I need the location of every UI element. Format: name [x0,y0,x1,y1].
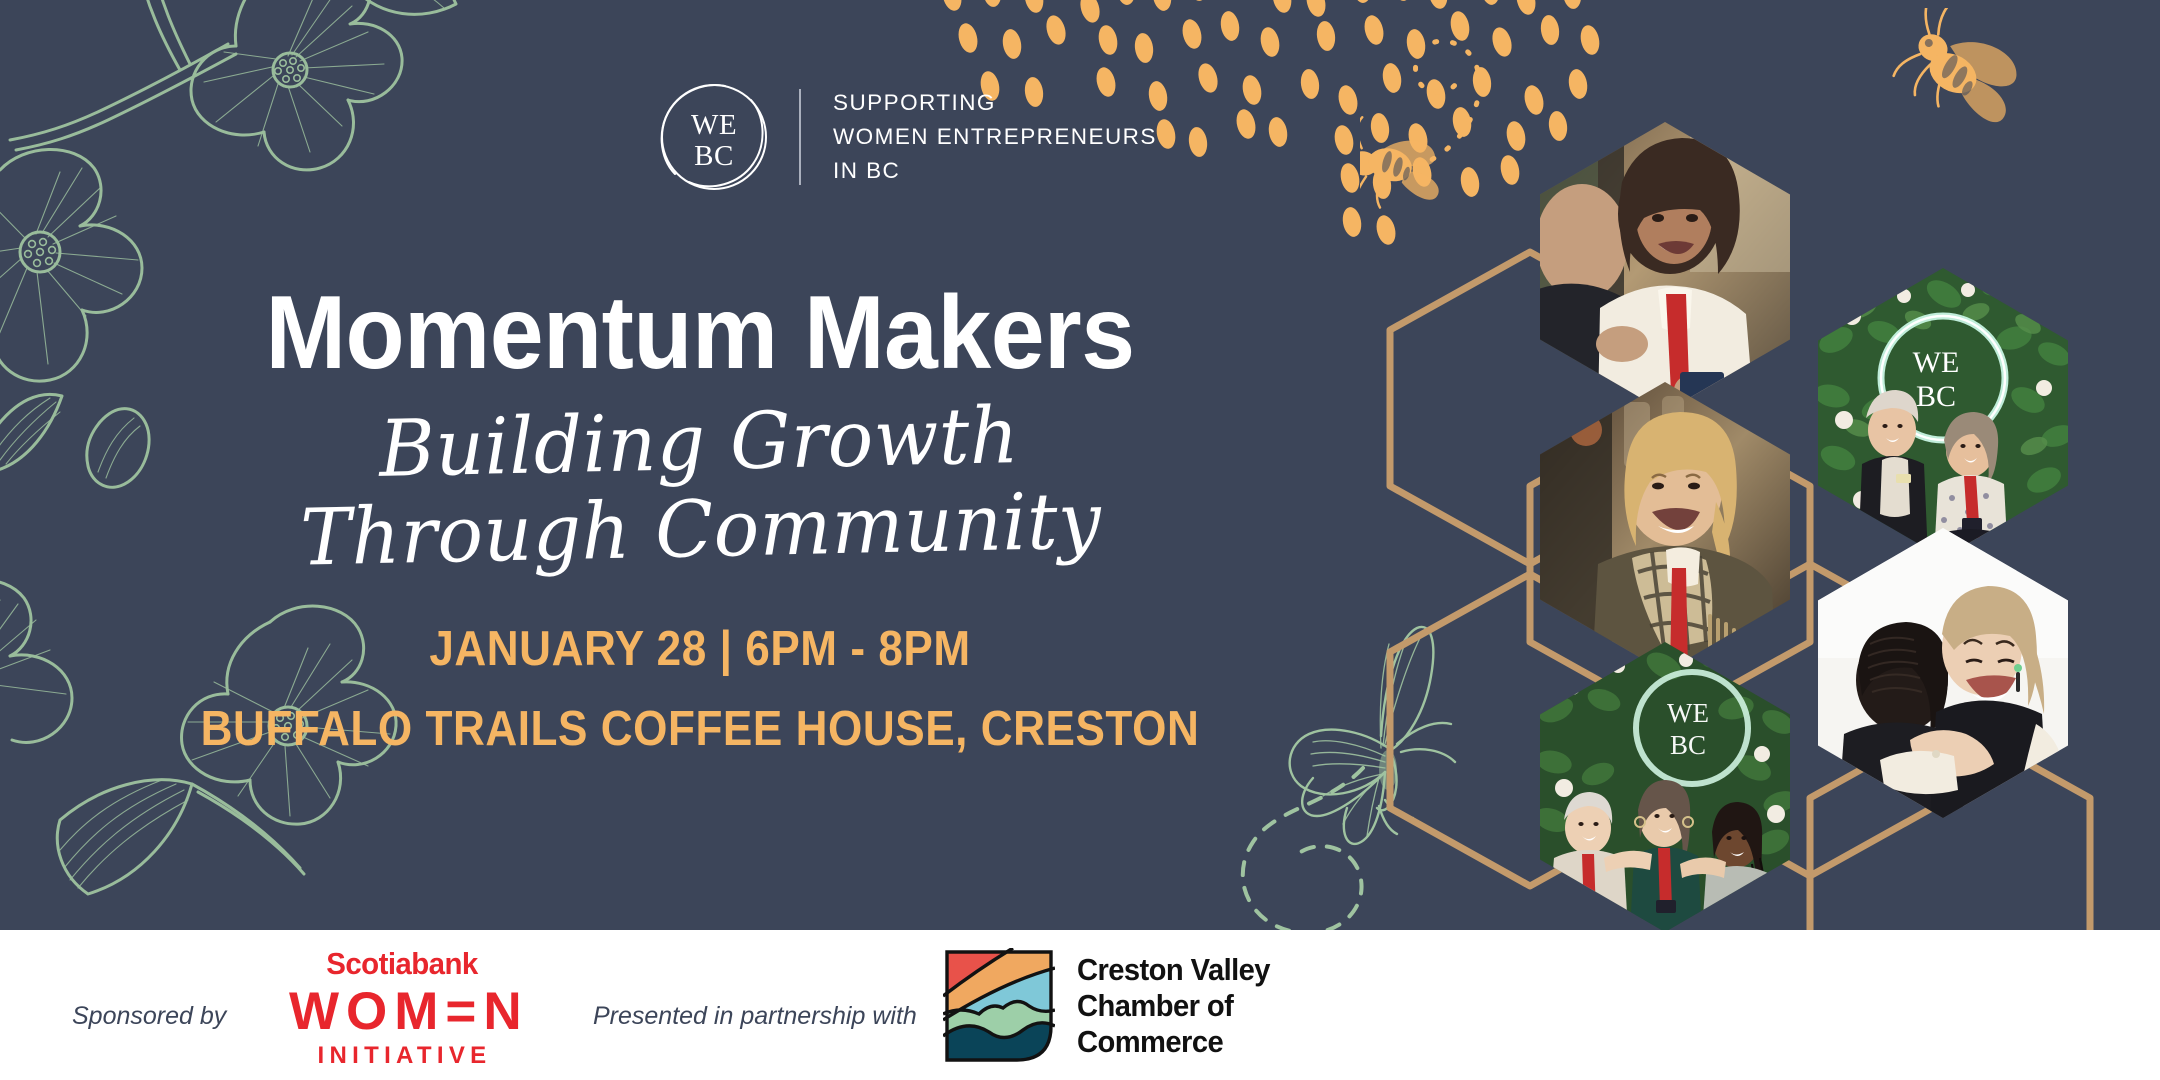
event-meta: JANUARY 28 | 6PM - 8PM BUFFALO TRAILS CO… [0,621,1400,757]
webc-logo-line1: WE [691,109,737,141]
hexagon-photo-collage: WE BC [1380,100,2160,940]
svg-text:WE: WE [1667,698,1709,728]
photo-two-women-webc-greenwall: WE BC [1818,268,2068,558]
sponsored-by-label: Sponsored by [72,1002,226,1031]
event-datetime: JANUARY 28 | 6PM - 8PM [70,621,1330,677]
webc-circle-logo: WE BC [655,78,773,196]
event-copy-block: Momentum Makers Building Growth Through … [0,280,1400,757]
photo-three-women-greenwall: WE BC [1540,642,1790,932]
footer-sponsor-bar: Sponsored by Scotiabank WOM=N INITIATIVE… [0,930,2160,1080]
webc-logo-line2: BC [694,140,734,172]
brand-divider [799,89,801,185]
presented-in-partnership-label: Presented in partnership with [593,1002,917,1031]
scotiabank-women-initiative-logo: Scotiabank WOM=N INITIATIVE [282,948,522,1068]
event-subtitle: Building Growth Through Community [19,385,1380,589]
creston-valley-chamber-of-commerce-logo: Creston Valley Chamber of Commerce [943,948,1282,1064]
photo-woman-cream-jacket-laughing [1540,122,1790,412]
svg-text:BC: BC [1916,380,1956,413]
svg-text:BC: BC [1670,730,1706,760]
photo-woman-plaid-scarf-laughing [1540,382,1790,672]
event-title: Momentum Makers [49,280,1351,386]
initiative-wordmark: INITIATIVE [282,1044,522,1068]
photo-two-women-hugging [1818,528,2068,818]
women-wordmark: WOM=N [282,984,522,1039]
webc-brand-lockup: WE BC SUPPORTING WOMEN ENTREPRENEURS IN … [655,78,1157,196]
event-promo-poster: WE BC SUPPORTING WOMEN ENTREPRENEURS IN … [0,0,2160,1080]
chamber-shield-icon [943,948,1055,1064]
svg-text:WE: WE [1913,346,1960,379]
chamber-name: Creston Valley Chamber of Commerce [1077,952,1270,1061]
event-venue: BUFFALO TRAILS COFFEE HOUSE, CRESTON [70,701,1330,757]
scotiabank-wordmark: Scotiabank [288,948,516,979]
brand-tagline: SUPPORTING WOMEN ENTREPRENEURS IN BC [833,86,1157,187]
